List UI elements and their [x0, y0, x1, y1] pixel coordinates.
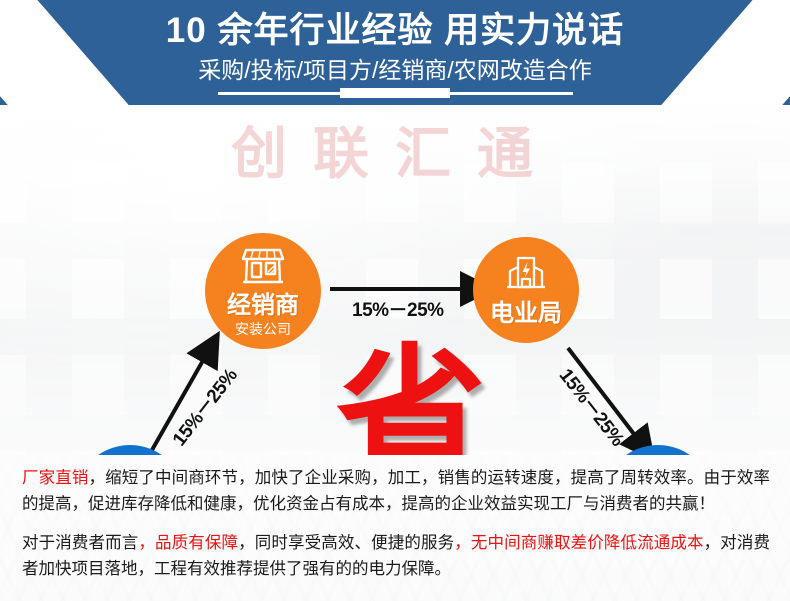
footer-paragraph-2: 对于消费者而言，品质有保障，同时享受高效、便捷的服务，无中间商赚取差价降低流通成… — [22, 530, 770, 582]
page-subtitle: 采购/投标/项目方/经销商/农网改造合作 — [0, 48, 790, 82]
footer-p2-part2: ，同时享受高效、便捷的服务 — [238, 534, 454, 552]
node-dealer-sublabel: 安装公司 — [235, 322, 291, 336]
page-title: 10 余年行业经验 用实力说话 — [0, 0, 790, 48]
node-dealer[interactable]: 经销商 安装公司 — [205, 233, 321, 349]
footer-p2-highlight-1: ，品质有保障 — [138, 534, 238, 552]
node-dealer-label: 经销商 — [227, 294, 299, 318]
page-header: 10 余年行业经验 用实力说话 采购/投标/项目方/经销商/农网改造合作 — [0, 0, 790, 105]
footer-description: 厂家直销，缩短了中间商环节，加快了企业采购，加工，销售的运转速度，提高了周转效率… — [0, 455, 790, 601]
header-divider-thick-segment — [340, 88, 450, 98]
footer-text-block: 厂家直销，缩短了中间商环节，加快了企业采购，加工，销售的运转速度，提高了周转效率… — [0, 455, 790, 582]
flow-diagram-stage: 创联汇通 15%－25% 15%－25% 15%－25% 省 在这里省了中间环节… — [0, 105, 790, 455]
percent-label-dealer-to-bureau: 15%－25% — [352, 295, 444, 322]
node-power-bureau-label: 电业局 — [490, 302, 562, 326]
header-divider — [0, 88, 790, 98]
footer-p2-highlight-2: ，无中间商赚取差价降低流通成本 — [454, 534, 703, 552]
footer-p2-part1: 对于消费者而言 — [22, 534, 138, 552]
footer-p1-highlight: 厂家直销 — [22, 469, 89, 487]
promo-infographic-page: 10 余年行业经验 用实力说话 采购/投标/项目方/经销商/农网改造合作 创联汇… — [0, 0, 790, 601]
power-building-icon — [504, 255, 548, 298]
header-text-block: 10 余年行业经验 用实力说话 采购/投标/项目方/经销商/农网改造合作 — [0, 0, 790, 82]
node-power-bureau[interactable]: 电业局 — [473, 237, 579, 343]
footer-paragraph-1: 厂家直销，缩短了中间商环节，加快了企业采购，加工，销售的运转速度，提高了周转效率… — [22, 465, 770, 517]
storefront-icon — [238, 246, 288, 291]
footer-p1-rest: ，缩短了中间商环节，加快了企业采购，加工，销售的运转速度，提高了周转效率。由于效… — [22, 469, 770, 513]
savings-character: 省 — [336, 343, 486, 455]
